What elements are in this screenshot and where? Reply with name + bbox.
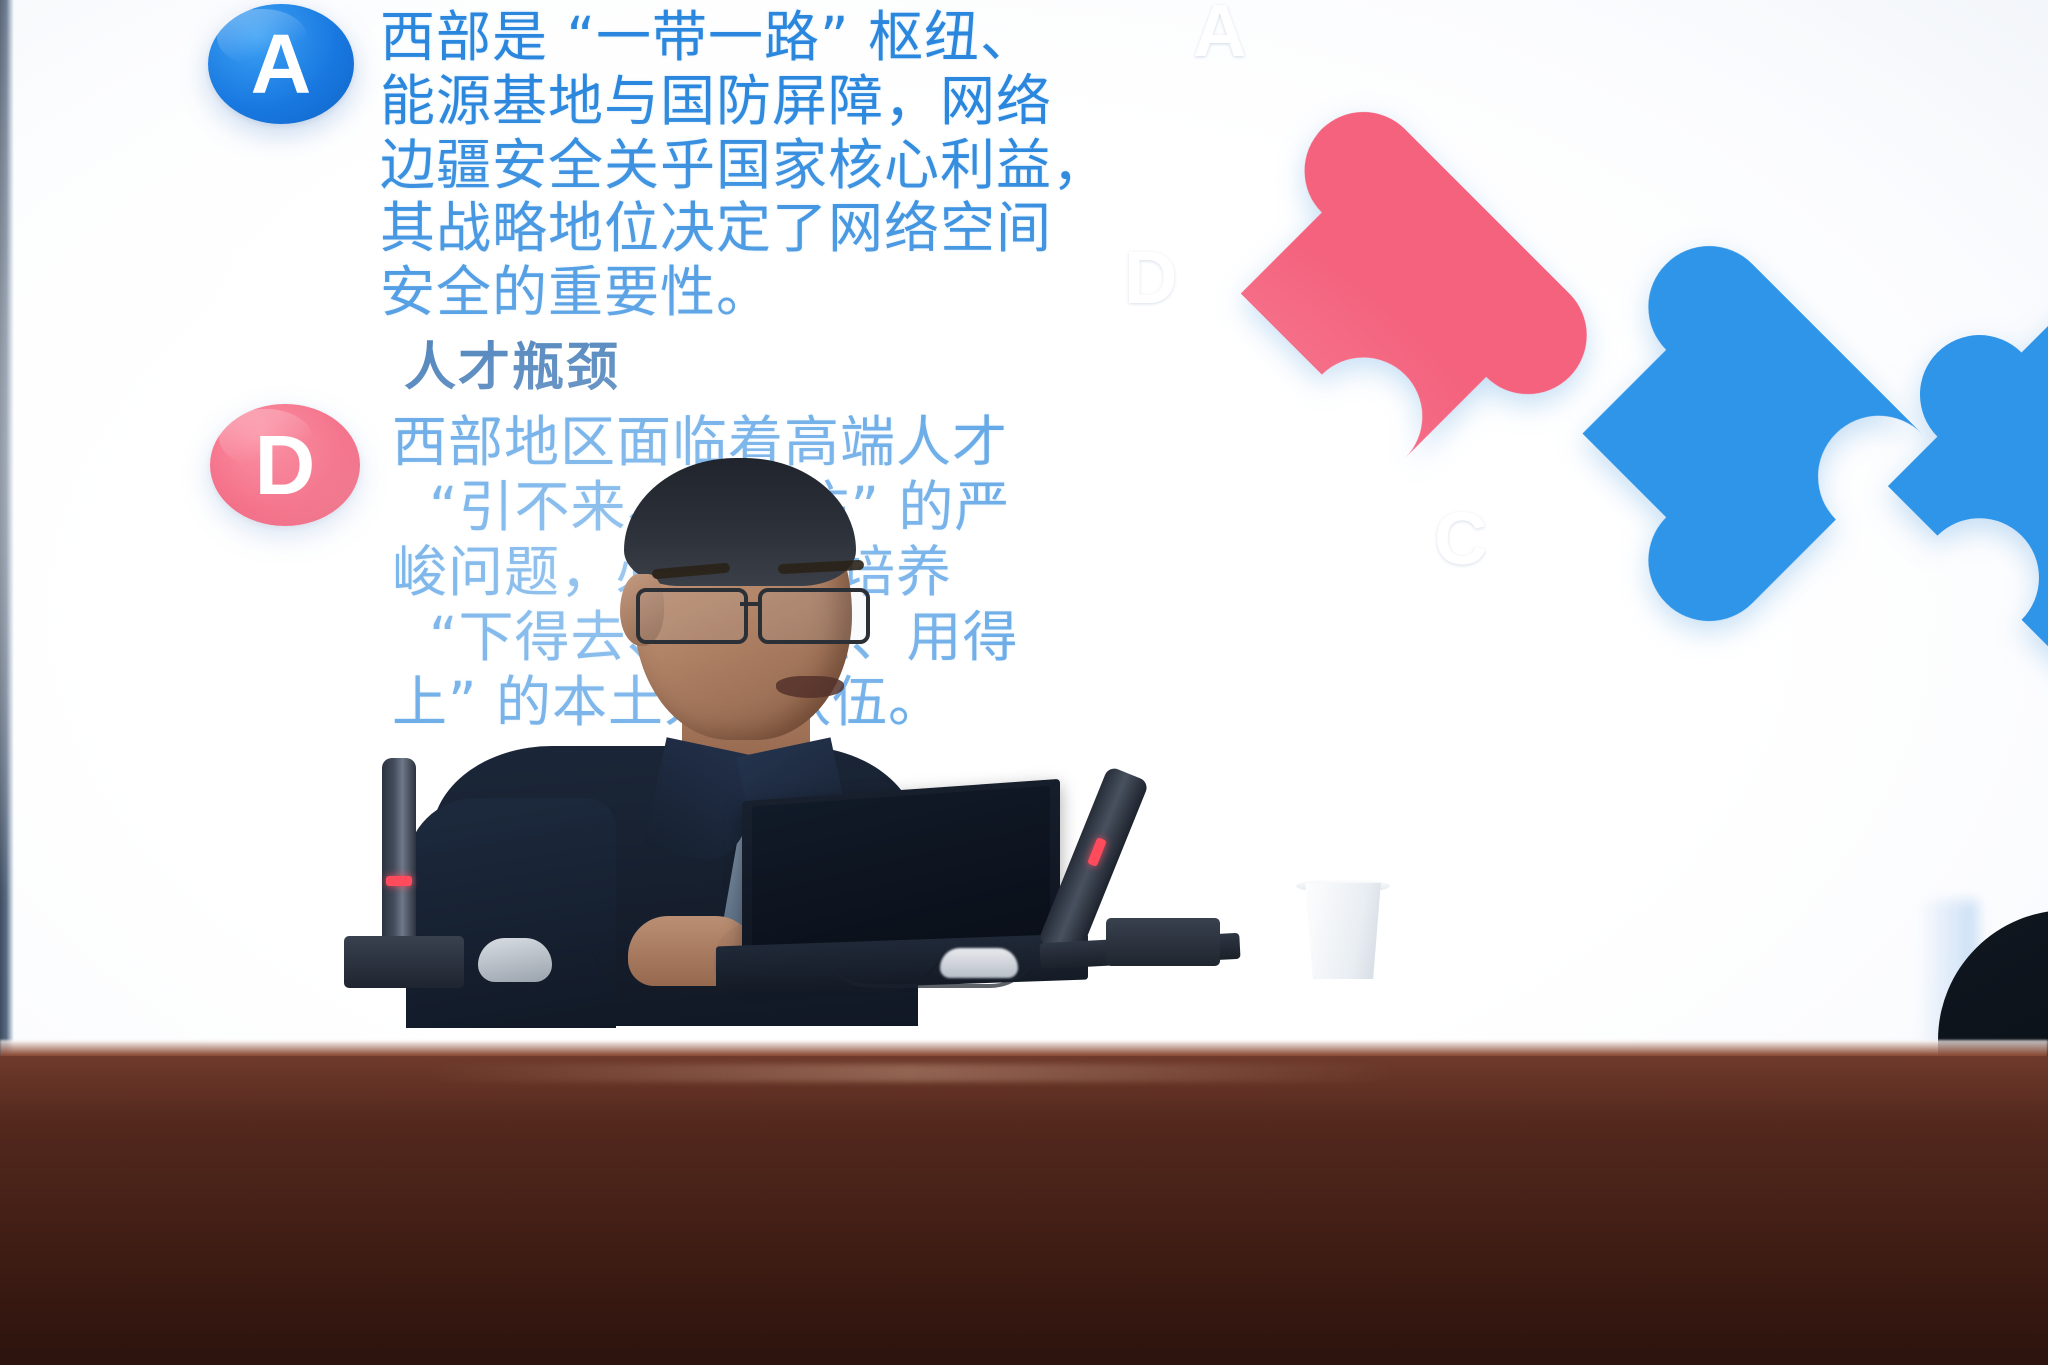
microphone-right-base — [1106, 918, 1220, 966]
presenter-glasses — [636, 584, 872, 644]
desk — [0, 1056, 2048, 1365]
presenter-mouth — [776, 676, 844, 698]
puzzle-letter-a: A — [1193, 0, 1246, 73]
bullet-badge-a: A — [208, 4, 354, 124]
puzzle-graphic — [978, 0, 2048, 716]
bullet-badge-d: D — [210, 404, 360, 526]
microphone-left-stem — [382, 758, 416, 958]
computer-mouse — [478, 938, 552, 982]
microphone-left — [374, 758, 434, 958]
bullet-badge-d-label: D — [255, 417, 316, 514]
microphone-left-led — [386, 876, 412, 886]
puzzle-letter-c: C — [1434, 496, 1487, 581]
conference-presentation-scene: A D C A 西部是 “一带一路” 枢纽、 能源基地与国防屏障，网络 边疆安全… — [0, 0, 2048, 1365]
glasses-bridge — [740, 602, 760, 606]
puzzle-letter-d: D — [1124, 235, 1177, 320]
desk-highlight — [420, 1064, 1400, 1082]
presenter-arm — [406, 798, 616, 1028]
slide-paragraph-a: 西部是 “一带一路” 枢纽、 能源基地与国防屏障，网络 边疆安全关乎国家核心利益… — [380, 6, 1108, 325]
puzzle-piece-d — [1199, 88, 1611, 500]
paper-cup — [1300, 883, 1386, 979]
glasses-lens-right — [758, 588, 870, 644]
computer-mouse-secondary — [940, 948, 1018, 978]
microphone-left-base — [344, 936, 464, 988]
glasses-lens-left — [636, 588, 748, 644]
bullet-badge-a-label: A — [251, 16, 312, 113]
screen-left-edge — [0, 0, 14, 1060]
slide-heading-talent-bottleneck: 人才瓶颈 — [404, 340, 620, 397]
puzzle-piece-a — [1846, 261, 2048, 711]
